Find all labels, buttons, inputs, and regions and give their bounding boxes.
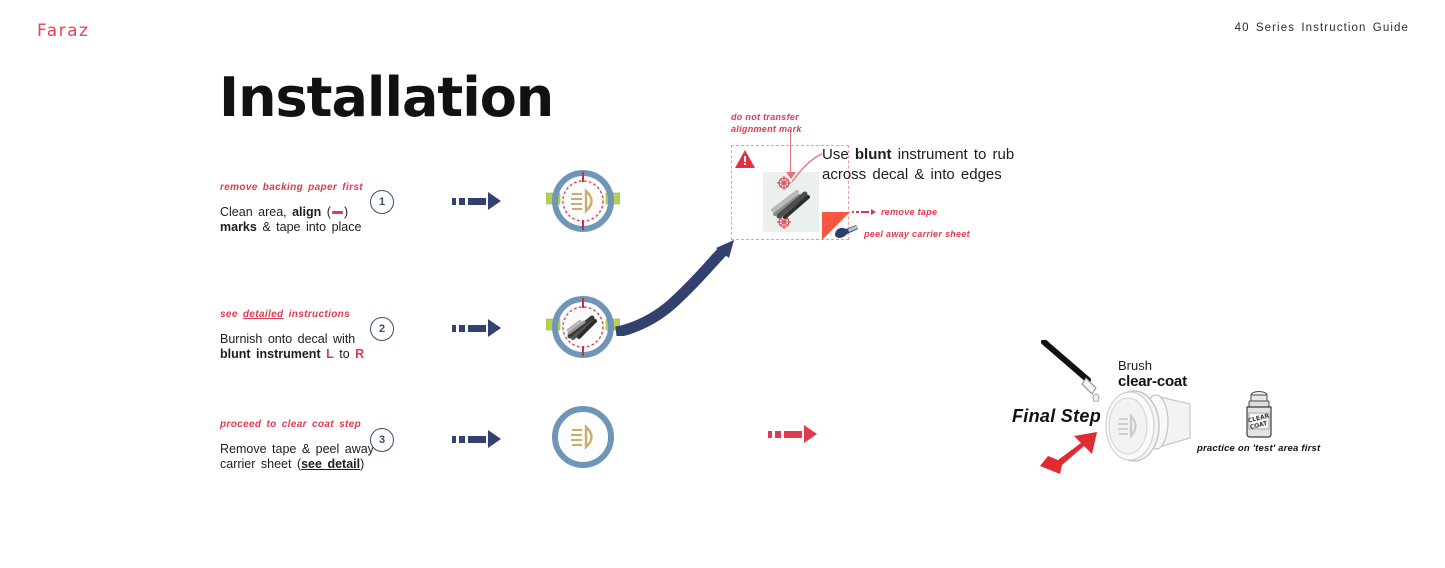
- step-2-to: to: [339, 347, 349, 361]
- step-2-right-marker: R: [355, 347, 364, 361]
- step-2-bold-instrument: blunt instrument: [220, 347, 321, 361]
- remove-tape-arrow-icon: [852, 209, 876, 215]
- warning-triangle-icon: [735, 150, 755, 173]
- heading-leader-line: [790, 152, 824, 189]
- rub-heading-bold: blunt: [855, 146, 892, 163]
- step-3-line1: Remove tape & peel away: [220, 442, 374, 456]
- final-step-big-arrow-icon: [1040, 432, 1100, 479]
- remove-tape-annotation: remove tape: [852, 206, 937, 218]
- step-1-bold-align: align: [292, 205, 321, 219]
- flow-arrow-1-icon: [452, 192, 501, 210]
- step-1-text-pre: Clean area,: [220, 205, 287, 219]
- step-1-bold-marks: marks: [220, 220, 257, 234]
- step-number-3: 3: [370, 428, 394, 452]
- flow-arrow-3-icon: [452, 430, 501, 448]
- rub-heading-line2: across decal & into edges: [822, 166, 1002, 183]
- decal-badge-step-2: [546, 292, 620, 366]
- step-number-2: 2: [370, 317, 394, 341]
- final-step-label: Final Step: [1012, 406, 1101, 427]
- step-1-text-post: & tape into place: [262, 220, 361, 234]
- guide-label: 40 Series Instruction Guide: [1235, 22, 1409, 34]
- remove-tape-label: remove tape: [881, 206, 937, 218]
- practice-note: practice on 'test' area first: [1197, 443, 1320, 454]
- brush-caption-line-1: Brush: [1118, 358, 1187, 373]
- brand-logo: Faraz: [37, 21, 89, 41]
- peel-hand-icon: [833, 224, 859, 245]
- decal-badge-step-1: [546, 166, 620, 240]
- peel-sheet-label: peel away carrier sheet: [864, 228, 970, 240]
- alignment-warning-line-1: do not transfer: [731, 111, 802, 123]
- step-2-text-pre: Burnish onto decal with: [220, 332, 355, 346]
- step-3-line2-pre: carrier sheet (: [220, 457, 301, 471]
- step-2-caption-pre: see: [220, 309, 238, 320]
- step-3-see-detail-link[interactable]: see detail: [301, 457, 360, 471]
- rub-instruction-heading: Use blunt instrument to rub across decal…: [822, 145, 1014, 184]
- rub-heading-post: instrument to rub: [898, 146, 1015, 163]
- headlight-bulb-illustration: [1098, 380, 1208, 477]
- step-3-line2-post: ): [360, 457, 364, 471]
- page-title: Installation: [219, 66, 553, 129]
- decal-badge-step-3: [546, 402, 620, 476]
- step-2-caption-post: instructions: [289, 309, 350, 320]
- rub-heading-pre: Use: [822, 146, 849, 163]
- step-2-caption-link[interactable]: detailed: [243, 309, 284, 320]
- step-2-left-marker: L: [326, 347, 334, 361]
- peel-sheet-annotation: peel away carrier sheet: [833, 224, 970, 245]
- alignment-dash-icon: [332, 211, 343, 214]
- curved-flow-arrow-icon: [612, 236, 744, 341]
- step-1-paren-close: ): [344, 205, 348, 219]
- clear-coat-bottle-icon: CLEAR COAT: [1240, 389, 1278, 444]
- step-1-paren-open: (: [327, 205, 331, 219]
- flow-arrow-2-icon: [452, 319, 501, 337]
- final-step-flow-arrow-icon: [768, 425, 817, 443]
- step-number-1: 1: [370, 190, 394, 214]
